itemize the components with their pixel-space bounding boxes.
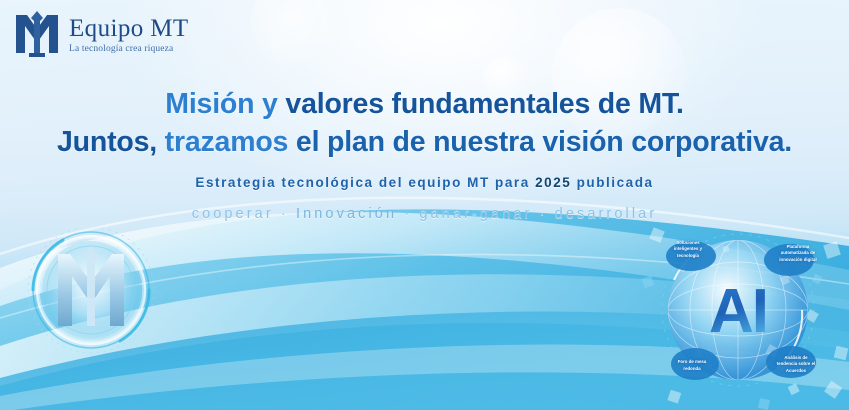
subtitle-year: 2025 — [535, 175, 571, 190]
headline-l2-c: el plan de nuestra visión corporativa. — [296, 126, 792, 158]
ai-label-2: Plataforma automatizada de innovación di… — [777, 244, 819, 263]
m-monogram-shield-icon — [14, 9, 60, 59]
ai-label-4: Análisis de tendencia sobre el Acuerdos — [775, 355, 817, 374]
headline-l2-b: trazamos — [165, 126, 296, 158]
mt-circular-emblem — [16, 228, 166, 378]
page-title: Misión y valores fundamentales de MT. Ju… — [0, 86, 849, 162]
brand-title: Equipo MT — [69, 16, 189, 41]
subtitle-text-b: publicada — [571, 175, 653, 190]
headline-l1-a: Misión y — [165, 88, 285, 120]
keyword-cooperar: cooperar — [192, 206, 274, 222]
keyword-desarrollar: desarrollar — [555, 206, 658, 222]
headline-l1-b: valores fundamentales de MT. — [285, 88, 683, 120]
hero-subtitle: Estrategia tecnológica del equipo MT par… — [0, 175, 849, 190]
keyword-separator-1: · — [281, 206, 289, 222]
keyword-separator-3: · — [540, 206, 548, 222]
brand-logo[interactable]: Equipo MT La tecnología crea riqueza — [14, 9, 189, 59]
hero-copy: Misión y valores fundamentales de MT. Ju… — [0, 86, 849, 222]
marketing-banner: Equipo MT La tecnología crea riqueza Mis… — [0, 0, 849, 410]
svg-text:AI: AI — [709, 277, 767, 346]
ai-label-3: Foro de mesa redonda — [671, 359, 713, 372]
ai-sphere-graphic: AI Soluciones inteligentes y tecnología … — [649, 224, 827, 396]
bokeh-circle-medium — [250, 0, 340, 68]
keyword-ganar-ganar: ganar-ganar — [419, 206, 532, 222]
ai-label-1: Soluciones inteligentes y tecnología — [667, 240, 709, 259]
headline-l2-a: Juntos, — [57, 126, 165, 158]
keyword-innovacion: Innovación — [296, 206, 397, 222]
hero-keywords: cooperar · Innovación · ganar-ganar · de… — [0, 206, 849, 222]
brand-tagline: La tecnología crea riqueza — [69, 45, 189, 55]
keyword-separator-2: · — [404, 206, 412, 222]
subtitle-text-a: Estrategia tecnológica del equipo MT par… — [195, 175, 535, 190]
